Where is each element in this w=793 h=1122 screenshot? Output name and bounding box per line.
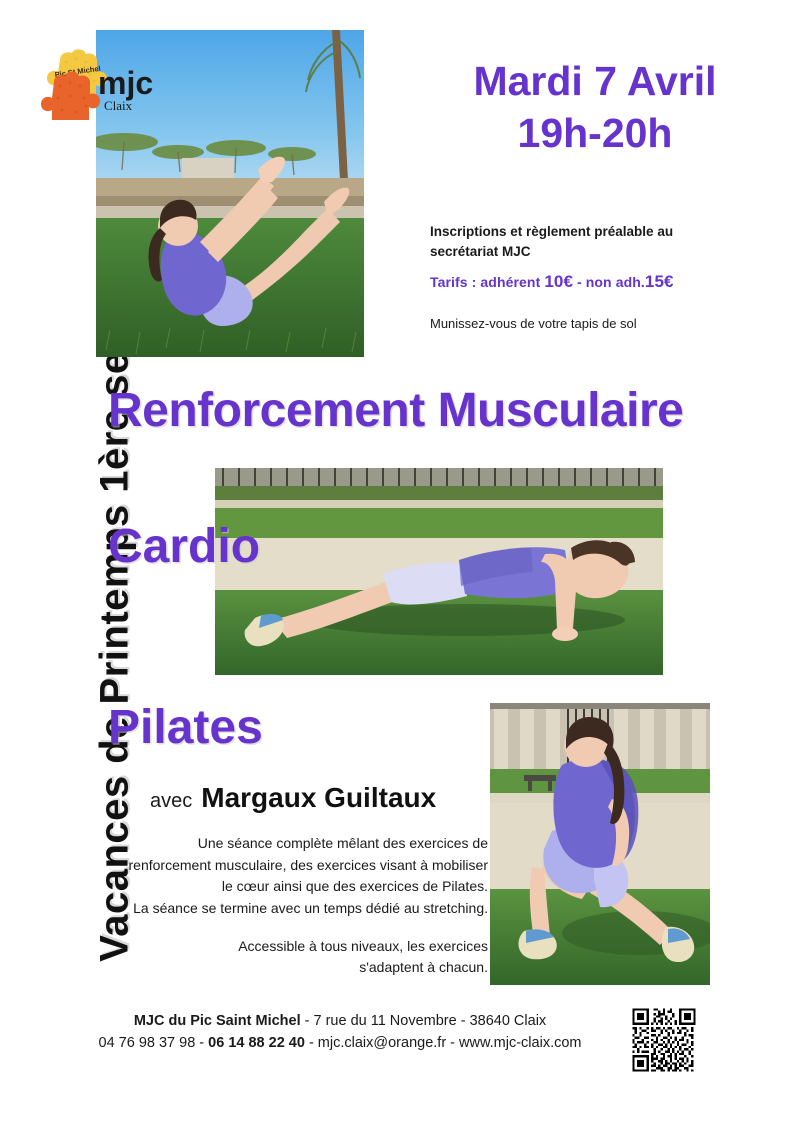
description-line-5: Accessible à tous niveaux, les exercices	[238, 938, 488, 954]
description-line-4: La séance se termine avec un temps dédié…	[133, 900, 488, 916]
description-gap	[100, 920, 488, 936]
footer-address-line: MJC du Pic Saint Michel - 7 rue du 11 No…	[60, 1010, 620, 1032]
mjc-logo: Pic St Michel mjc Claix	[38, 48, 156, 136]
session-description: Une séance complète mêlant des exercices…	[100, 833, 488, 979]
footer-phone-mobile: 06 14 88 22 40	[208, 1035, 305, 1051]
pricing-line: Tarifs : adhérent 10€ - non adh.15€	[430, 272, 750, 292]
pricing-middle: - non adh.	[573, 274, 645, 290]
registration-text: Inscriptions et règlement préalable au s…	[430, 222, 750, 261]
footer-contact: MJC du Pic Saint Michel - 7 rue du 11 No…	[60, 1010, 620, 1055]
poster-root: Pic St Michel mjc Claix Vacances de Prin…	[0, 0, 793, 1122]
description-line-1: Une séance complète mêlant des exercices…	[198, 835, 488, 851]
event-date-block: Mardi 7 Avril 19h-20h	[430, 55, 760, 160]
registration-line-1: Inscriptions et règlement préalable au	[430, 224, 673, 239]
registration-info-block: Inscriptions et règlement préalable au s…	[430, 222, 750, 331]
heading-cardio: Cardio	[108, 519, 260, 574]
footer-org-name: MJC du Pic Saint Michel	[134, 1013, 301, 1029]
footer-contact-line: 04 76 98 37 98 - 06 14 88 22 40 - mjc.cl…	[60, 1032, 620, 1054]
instructor-prefix: avec	[150, 790, 192, 812]
photo-lunge-pose	[490, 703, 710, 985]
instructor-block: avecMargaux Guiltaux	[150, 782, 436, 814]
heading-renforcement-musculaire: Renforcement Musculaire	[108, 383, 683, 438]
equipment-note: Munissez-vous de votre tapis de sol	[430, 316, 750, 331]
logo-subbrand: Claix	[104, 98, 133, 113]
heading-pilates: Pilates	[108, 700, 263, 755]
instructor-name: Margaux Guiltaux	[201, 782, 436, 813]
qr-code[interactable]	[630, 1006, 698, 1074]
photo-plank-pose	[215, 468, 663, 675]
registration-line-2: secrétariat MJC	[430, 244, 531, 259]
description-line-6: s'adaptent à chacun.	[359, 959, 488, 975]
logo-wordmark: mjc	[98, 65, 153, 101]
footer-phone-fixed: 04 76 98 37 98 -	[99, 1035, 209, 1051]
description-line-2: renforcement musculaire, des exercices v…	[129, 857, 488, 873]
footer-address: - 7 rue du 11 Novembre - 38640 Claix	[301, 1013, 547, 1029]
event-time: 19h-20h	[430, 107, 760, 159]
footer-email-website: - mjc.claix@orange.fr - www.mjc-claix.co…	[305, 1035, 582, 1051]
pricing-prefix: Tarifs : adhérent	[430, 274, 544, 290]
event-date: Mardi 7 Avril	[430, 55, 760, 107]
price-non-member: 15€	[645, 272, 674, 291]
description-line-3: le cœur ainsi que des exercices de Pilat…	[222, 878, 488, 894]
price-member: 10€	[544, 272, 573, 291]
